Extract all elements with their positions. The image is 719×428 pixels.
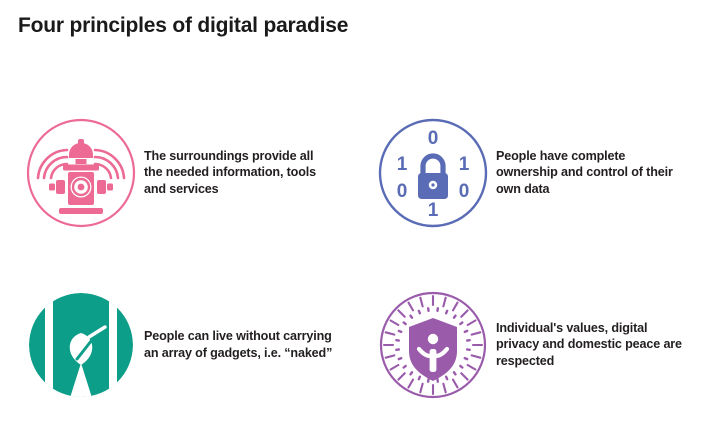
page-title: Four principles of digital paradise — [18, 14, 348, 38]
principles-grid: The surroundings provide all the needed … — [0, 90, 719, 428]
digit-upper-left: 1 — [397, 154, 408, 175]
digit-lower-right: 0 — [459, 181, 470, 202]
digit-bottom: 1 — [428, 200, 439, 221]
digit-lower-left: 0 — [397, 181, 408, 202]
digit-upper-right: 1 — [459, 154, 470, 175]
principle-surroundings: The surroundings provide all the needed … — [22, 90, 374, 255]
shield-person-icon — [374, 281, 492, 409]
principle-text: People can live without carrying an arra… — [144, 328, 334, 361]
principle-text: The surroundings provide all the needed … — [144, 148, 334, 198]
leaf-person-icon — [22, 281, 140, 409]
principle-no-gadgets: People can live without carrying an arra… — [22, 262, 374, 427]
padlock-binary-icon: 0 1 1 0 0 1 — [374, 109, 492, 237]
principle-text: People have complete ownership and contr… — [496, 148, 686, 198]
fire-hydrant-wifi-icon — [22, 109, 140, 237]
principle-privacy: Individual's values, digital privacy and… — [374, 262, 719, 427]
digit-top: 0 — [428, 128, 439, 149]
principle-text: Individual's values, digital privacy and… — [496, 320, 686, 370]
principle-data-ownership: 0 1 1 0 0 1 People have complete ownersh… — [374, 90, 719, 255]
